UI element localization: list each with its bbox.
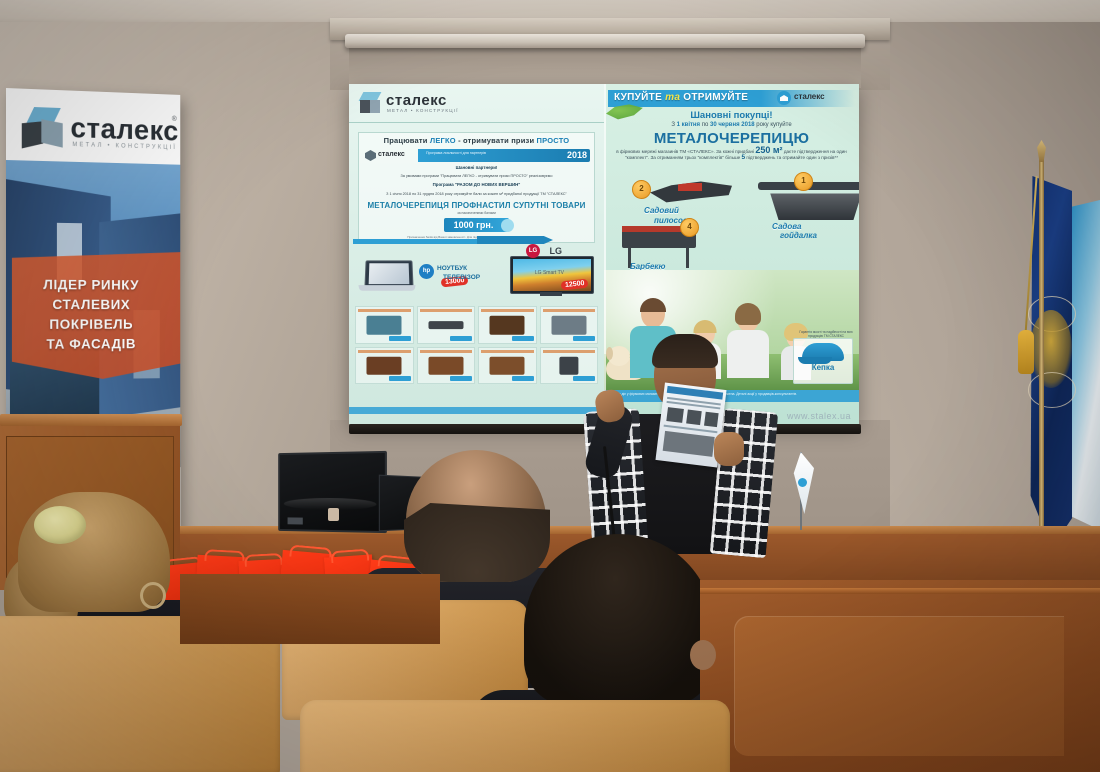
yellow-scrunchie [34,506,86,544]
mother-figure [726,306,770,378]
banner-header: сталекс ® МЕТАЛ • КОНСТРУКЦІЇ [6,88,180,165]
front-desk-panel [700,580,1100,772]
promo-body-1: За умовами програми "Працювати ЛЕГКО - о… [363,174,590,179]
prize-number-badge: 1 [794,172,813,191]
promo-products-note: за накопиченими балами [363,211,590,215]
desk-cup [328,508,339,521]
stalex-cube-logo-icon [20,107,65,152]
slide-divider [604,84,606,424]
presenter-right-hand [714,432,744,466]
promo-body-3: З 1 січня 2018 по 31 грудня 2018 року от… [363,192,590,197]
prize-number-badge: 2 [632,180,651,199]
prize-label: Садовий [644,206,679,215]
tv-label: ТЕЛЕВІЗОР [443,274,480,281]
promo-subtitle: Шановні партнери! [456,165,498,170]
slide-left-panel: сталекс МЕТАЛ • КОНСТРУКЦІЇ Працювати ЛЕ… [349,84,604,424]
stalex-round-icon [777,91,791,105]
prize-number-badge: 4 [680,218,699,237]
front-desk-left [180,574,440,644]
greeting-line: Шановні покупці! [604,110,859,121]
offer-dates-line: З 1 квітня по 30 червня 2018 року купуйт… [604,122,859,128]
banner-headline-line-4: ТА ФАСАДІВ [6,333,175,354]
stalex-cube-icon [359,92,381,114]
slide-electronics-row: hp НОУТБУК 13000 ТЕЛЕВІЗОР LG LG LG Smar… [355,246,598,302]
offer-terms: в фірмових мережі магазинів ТМ «СТАЛЕКС»… [604,147,859,161]
product-headline: МЕТАЛОЧЕРЕПИЦЮ [604,130,859,147]
product-cell [417,347,476,385]
projected-slide: сталекс МЕТАЛ • КОНСТРУКЦІЇ Працювати ЛЕ… [349,84,859,424]
hp-laptop-image [359,260,415,294]
projector-screen-roller [345,34,865,48]
flag-emblem-ring-bottom [1028,372,1076,408]
slide-product-grid [355,306,598,384]
cap-icon [802,343,844,361]
tv-sub: LG Smart TV [535,270,564,276]
stalex-hex-icon [365,150,376,161]
promo-year: 2018 [567,150,587,160]
attendee-man-dark-hair-ear [690,640,716,670]
promo-price-badge: 1000 грн. [444,218,510,232]
product-cell [540,306,599,344]
promo-products: МЕТАЛОЧЕРЕПИЦЯ ПРОФНАСТИЛ СУПУТНІ ТОВАРИ [363,201,590,210]
banner-brand-superscript: ® [172,116,177,123]
auditorium-seat [300,700,730,772]
garden-vacuum-icon [650,180,732,206]
banner-headline: ЛІДЕР РИНКУ СТАЛЕВИХ ПОКРІВЕЛЬ ТА ФАСАДІ… [6,274,175,354]
slide-logo-text: сталекс [386,92,447,109]
gift-cap-label: Кепка [794,363,852,372]
slide-right-footer-bar: * Акція діє у фірмових магазинах ТМ «СТА… [604,390,859,402]
banner-headline-line-2: СТАЛЕВИХ [6,294,175,314]
prize-label-2: гойдалка [780,231,817,240]
promo-body-2: Програма "РАЗОМ ДО НОВИХ ВЕРШИН" [433,182,521,187]
prize-item-1: 1 Садова гойдалка [754,172,859,232]
lg-logo-icon: LG [526,244,540,258]
slide-stalex-logo: сталекс МЕТАЛ • КОНСТРУКЦІЇ [359,90,489,116]
gift-cap-card: Кепка [793,338,853,384]
prize-label: Садова [772,222,801,231]
flag-pole [1039,150,1044,570]
promo-ribbon-text: Програма лояльності для партнерів [426,151,486,155]
pennant-logo-icon [798,478,807,487]
promo-ribbon: Програма лояльності для партнерів 2018 [418,149,590,162]
lg-tv-image [510,256,592,298]
product-cell [478,347,537,385]
laptop-label: НОУТБУК [437,265,467,272]
banner-headline-line-3: ПОКРІВЕЛЬ [6,314,175,334]
promo-mini-logo: сталекс [363,148,415,162]
conference-room-photo: сталекс МЕТАЛ • КОНСТРУКЦІЇ Працювати ЛЕ… [0,0,1100,772]
garden-swing-icon [764,186,859,220]
flag-tassel [1018,330,1034,374]
banner-headline-line-1: ЛІДЕР РИНКУ [6,274,175,295]
hoop-earring [140,582,166,609]
product-cell [355,347,414,385]
product-cell [478,306,537,344]
tv-brand: LG [550,246,563,256]
prize-item-4: 4 Барбекю [614,218,724,276]
blue-white-flag [1072,200,1100,530]
product-cell [540,347,599,385]
slide-promo-box: Працювати ЛЕГКО - отримувати призи ПРОСТ… [358,132,595,243]
attendee-man-balding-hair [404,498,550,582]
slide-right-logo-text: сталекс [794,92,825,101]
website-url: www.stalex.ua [787,411,851,421]
slide-logo-tagline: МЕТАЛ • КОНСТРУКЦІЇ [387,108,459,113]
promo-headline: Працювати ЛЕГКО - отримувати призи ПРОСТ… [363,136,590,145]
slide-right-panel: КУПУЙТЕ та ОТРИМУЙТЕ сталекс Шановні пок… [604,84,859,424]
promo-mini-logo-text: сталекс [378,151,405,158]
slide-right-logo: сталекс [777,90,855,106]
hp-logo-icon: hp [419,264,434,279]
product-cell [417,306,476,344]
projector-screen-blank-area [349,46,861,88]
product-cell [355,306,414,344]
podium-top [0,414,182,426]
slide-left-footer-bar [349,407,604,414]
guarantee-note: Гарантія якості та надійності на всю про… [799,330,853,338]
